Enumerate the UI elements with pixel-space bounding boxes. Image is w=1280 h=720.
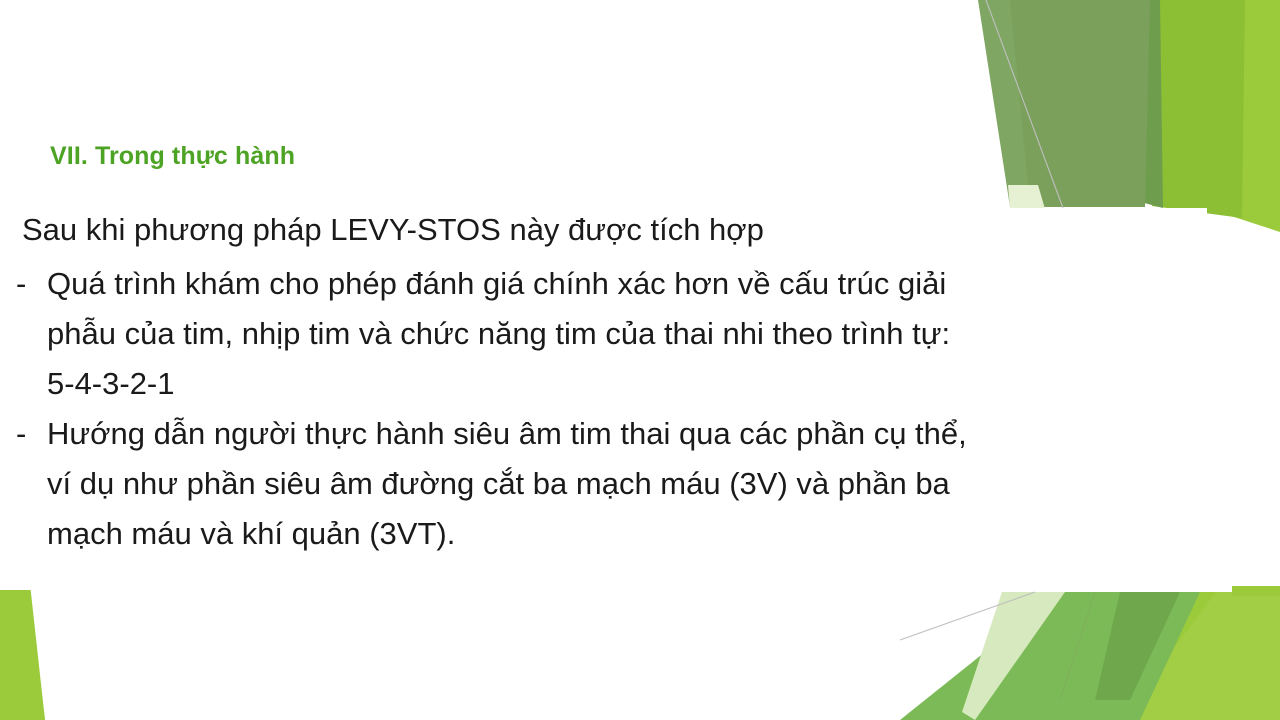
deco-hairline-bottom-2: [1060, 592, 1095, 700]
bullet-marker-icon: -: [0, 259, 47, 309]
deco-shape-light-field: [975, 592, 1280, 720]
bullet-item: - Hướng dẫn người thực hành siêu âm tim …: [0, 409, 1240, 559]
bullet-text: Hướng dẫn người thực hành siêu âm tim th…: [47, 409, 1217, 559]
bullet-line: ví dụ như phần siêu âm đường cắt ba mạch…: [47, 459, 1217, 509]
bullet-marker-icon: -: [0, 409, 47, 459]
deco-shape-light-right: [1228, 0, 1280, 232]
deco-shape-pale-foot: [1008, 185, 1045, 209]
bullet-text: Quá trình khám cho phép đánh giá chính x…: [47, 259, 1217, 409]
deco-shape-light-field-2: [1120, 592, 1280, 720]
deco-shape-olive-sliver: [978, 0, 1030, 207]
page-title: VII. Trong thực hành: [50, 142, 295, 171]
slide-body: Sau khi phương pháp LEVY-STOS này được t…: [0, 214, 1240, 559]
bullet-line: mạch máu và khí quản (3VT).: [47, 509, 1217, 559]
deco-shape-pale-triangle: [962, 592, 1065, 720]
bullet-item: - Quá trình khám cho phép đánh giá chính…: [0, 259, 1240, 409]
bullet-line: Quá trình khám cho phép đánh giá chính x…: [47, 259, 1217, 309]
deco-shape-bright: [1148, 0, 1245, 218]
bullet-line: 5-4-3-2-1: [47, 359, 1217, 409]
deco-shape-olive-main: [1004, 0, 1150, 207]
bullet-line: phẫu của tim, nhịp tim và chức năng tim …: [47, 309, 1217, 359]
slide-canvas: VII. Trong thực hành Sau khi phương pháp…: [0, 0, 1280, 720]
deco-shape-dark-wedge: [1118, 0, 1163, 208]
deco-shape-mid-slab: [900, 592, 1200, 720]
deco-hairline-top: [986, 0, 1063, 208]
bullet-line: Hướng dẫn người thực hành siêu âm tim th…: [47, 409, 1217, 459]
deco-hairline-bottom: [900, 592, 1035, 640]
deco-shape-notch: [1232, 586, 1280, 596]
lead-paragraph: Sau khi phương pháp LEVY-STOS này được t…: [0, 214, 1240, 245]
deco-shape-dark-band: [1095, 592, 1180, 700]
deco-shape-left-stripe-2: [14, 575, 45, 720]
